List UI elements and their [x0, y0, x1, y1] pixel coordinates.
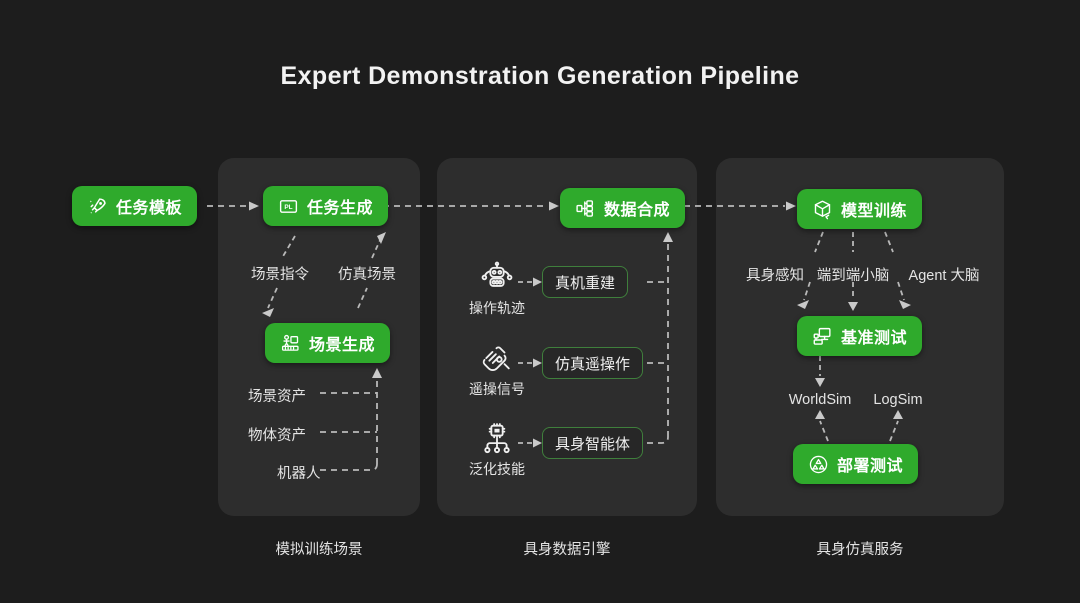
node-deployment-test[interactable]: 部署测试	[793, 444, 918, 484]
input-generalization-skill: 泛化技能	[460, 419, 534, 479]
diagram-canvas: Expert Demonstration Generation Pipeline	[0, 0, 1080, 603]
edge-label-embodied-perception: 具身感知	[746, 264, 804, 285]
scene-robot-icon	[280, 333, 301, 354]
rocket-icon	[87, 196, 108, 217]
panel-caption-embodied-simulation-service: 具身仿真服务	[716, 538, 1004, 559]
panel-caption-embodied-data-engine: 具身数据引擎	[437, 538, 697, 559]
panel-caption-simulation-training-scene: 模拟训练场景	[218, 538, 420, 559]
node-label: 部署测试	[837, 452, 903, 476]
svg-text:PL: PL	[284, 203, 292, 210]
input-teleoperation-signal: 遥操信号	[460, 339, 534, 399]
chip-net-icon	[460, 419, 534, 459]
edge-label-simulated-scene: 仿真场景	[338, 263, 396, 284]
input-label-scene-assets: 场景资产	[248, 385, 306, 406]
box-simulated-teleoperation[interactable]: 仿真遥操作	[542, 347, 643, 379]
data-tree-icon	[575, 198, 596, 219]
input-label-object-assets: 物体资产	[248, 424, 306, 445]
box-embodied-agent[interactable]: 具身智能体	[542, 427, 643, 459]
page-title: Expert Demonstration Generation Pipeline	[0, 62, 1080, 91]
edge-label-worldsim: WorldSim	[789, 392, 852, 408]
node-task-template[interactable]: 任务模板	[72, 186, 197, 226]
edge-label-end-to-end-cerebellum: 端到端小脑	[817, 264, 890, 285]
cube-arrow-icon	[812, 199, 833, 220]
node-label: 场景生成	[309, 331, 375, 355]
frame-pl-icon: PL	[278, 196, 299, 217]
edge-label-agent-brain: Agent 大脑	[909, 264, 980, 285]
node-scene-generation[interactable]: 场景生成	[265, 323, 390, 363]
box-real-machine-reconstruction[interactable]: 真机重建	[542, 266, 628, 298]
node-data-synthesis[interactable]: 数据合成	[560, 188, 685, 228]
node-label: 数据合成	[604, 196, 670, 220]
recycle-icon	[808, 454, 829, 475]
node-benchmark-test[interactable]: 基准测试	[797, 316, 922, 356]
edge-label-logsim: LogSim	[873, 392, 922, 408]
node-label: 基准测试	[841, 324, 907, 348]
robot-icon	[460, 258, 534, 298]
edge-label-scene-instruction: 场景指令	[251, 263, 309, 284]
node-task-generation[interactable]: PL 任务生成	[263, 186, 388, 226]
node-label: 模型训练	[841, 197, 907, 221]
node-label: 任务生成	[307, 194, 373, 218]
input-label: 泛化技能	[469, 461, 525, 477]
input-label-robot: 机器人	[277, 462, 321, 483]
node-label: 任务模板	[116, 194, 182, 218]
monitor-icon	[812, 326, 833, 347]
node-model-training[interactable]: 模型训练	[797, 189, 922, 229]
input-label: 操作轨迹	[469, 300, 525, 316]
glove-icon	[460, 339, 534, 379]
input-label: 遥操信号	[469, 381, 525, 397]
input-operation-trajectory: 操作轨迹	[460, 258, 534, 318]
